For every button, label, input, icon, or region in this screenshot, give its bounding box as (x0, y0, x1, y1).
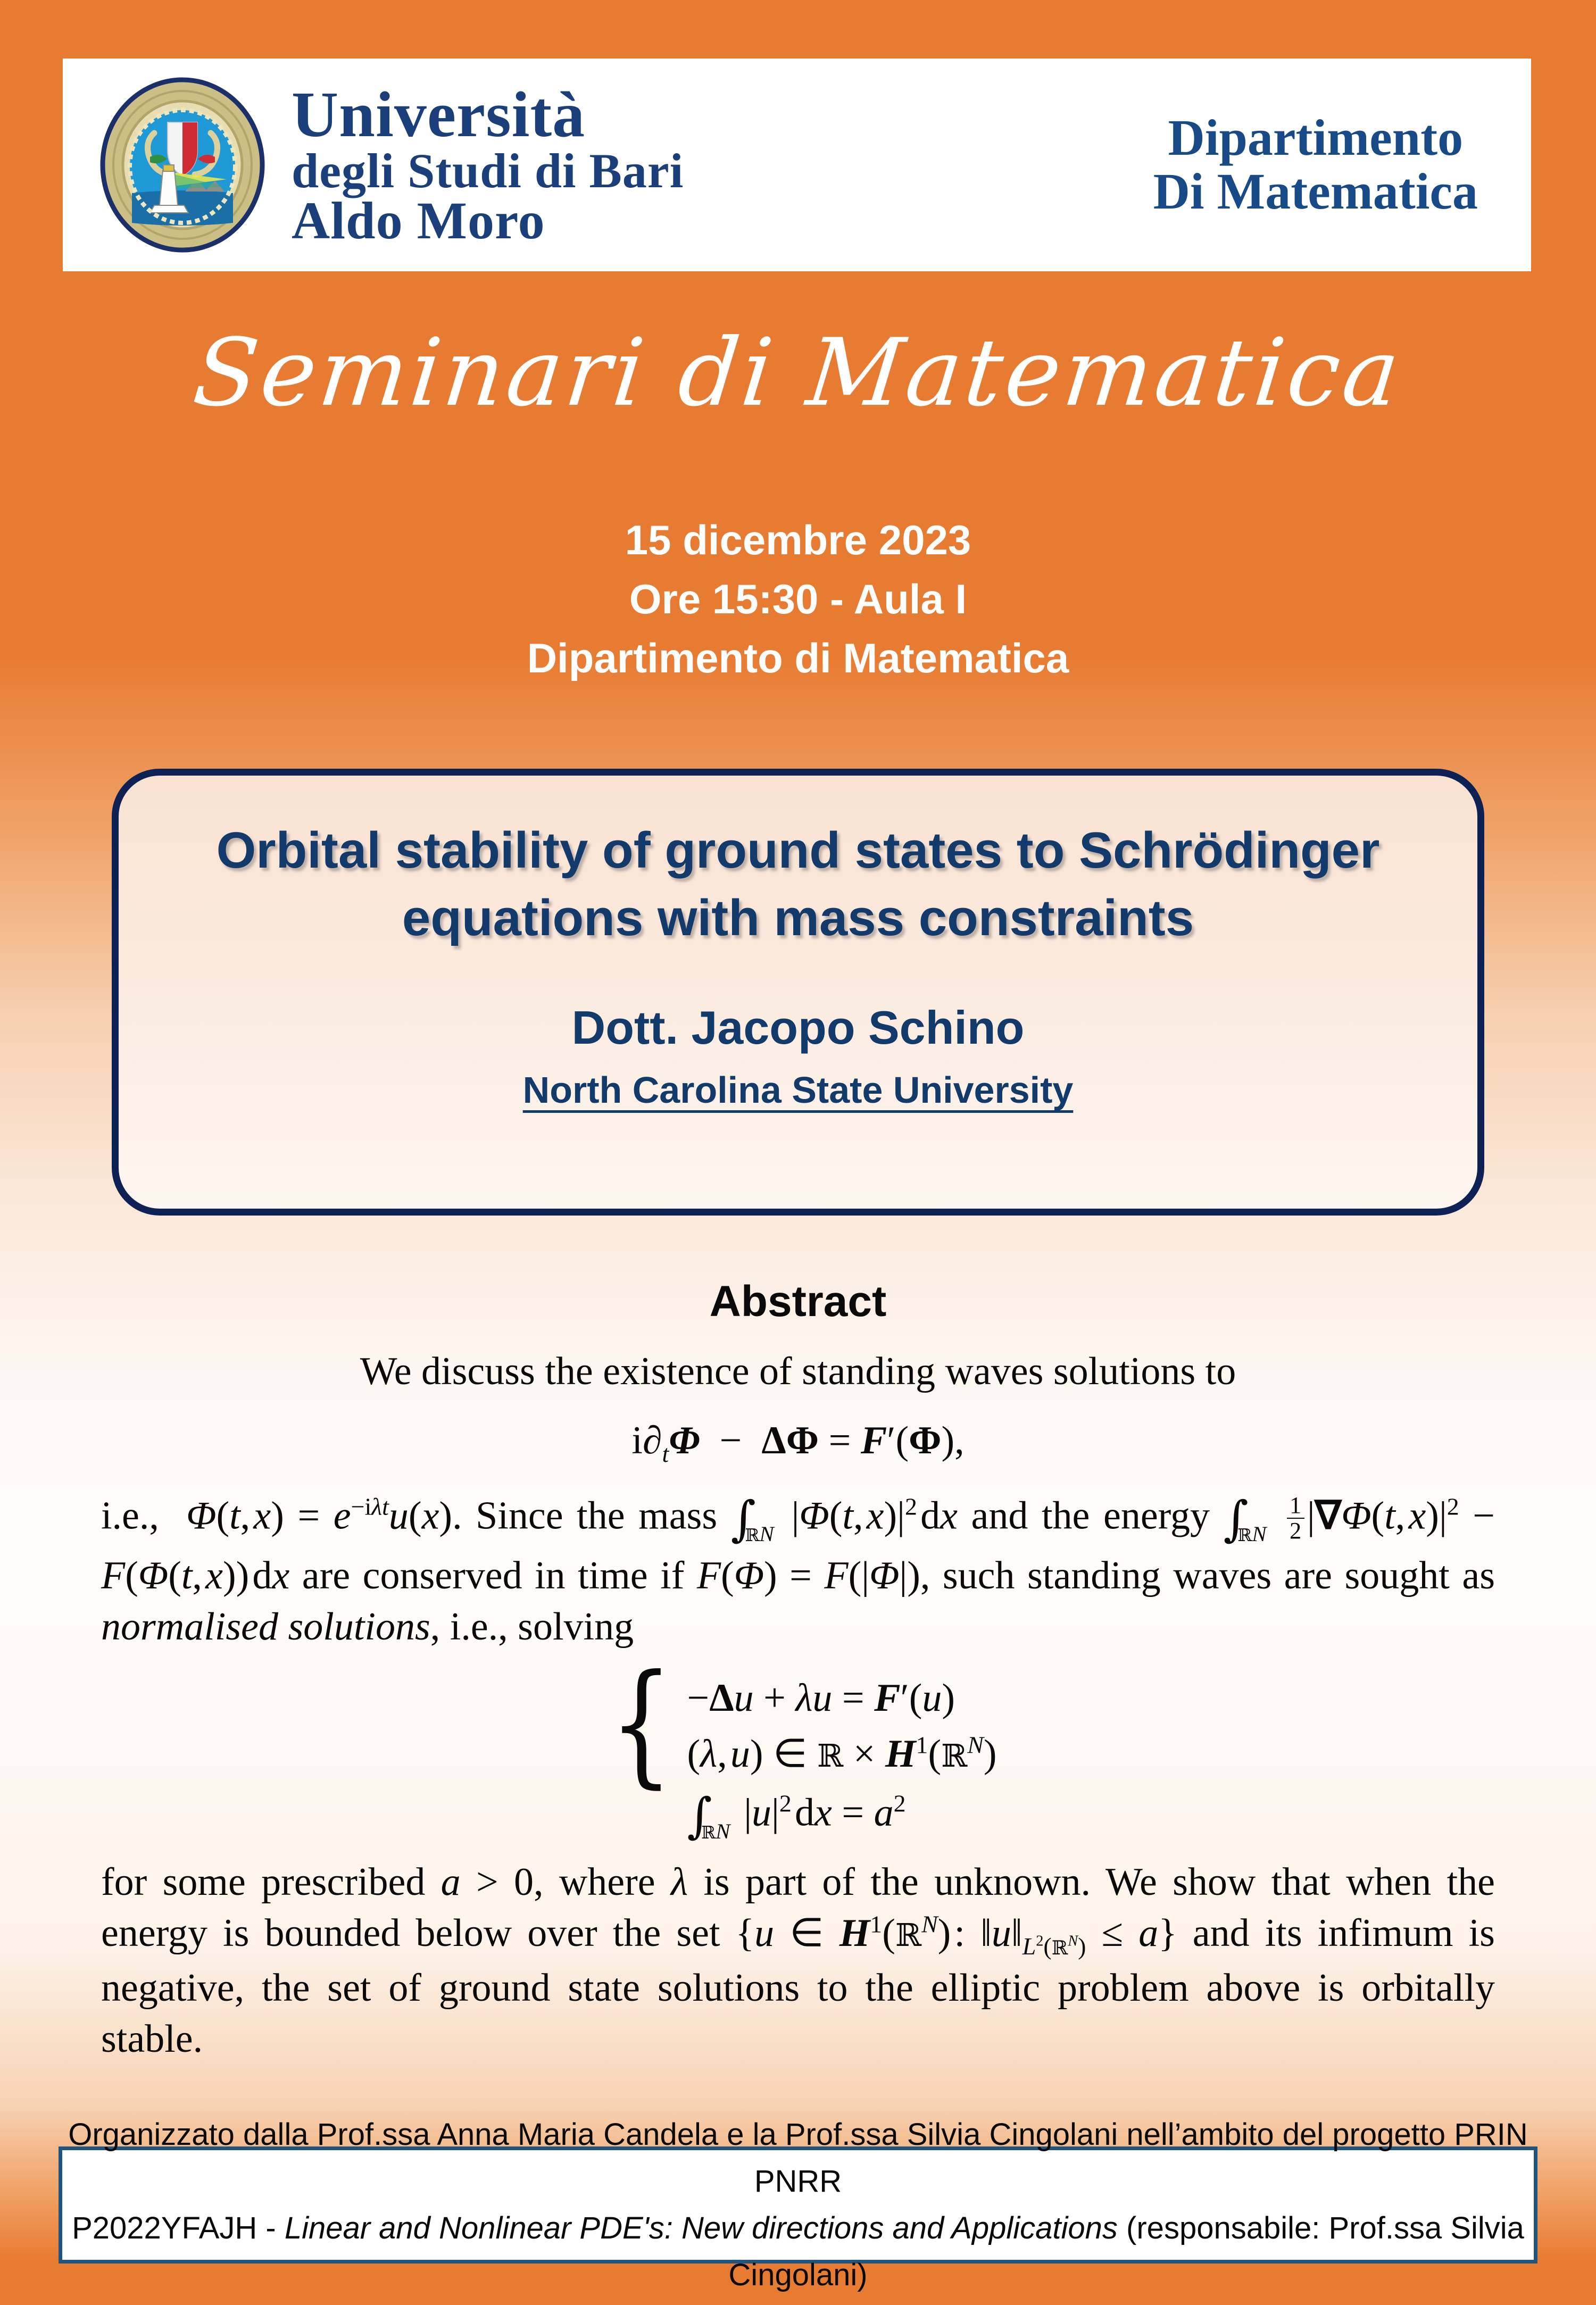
talk-title-line1: Orbital stability of ground states to Sc… (217, 822, 1380, 879)
university-seal-logo (95, 77, 270, 253)
system-line-3: ∫ℝN |u|2 dx = a2 (687, 1782, 996, 1850)
event-time-room: Ore 15:30 - Aula I (0, 570, 1596, 629)
university-line2: degli Studi di Bari (292, 147, 684, 195)
event-details: 15 dicembre 2023 Ore 15:30 - Aula I Dipa… (0, 511, 1596, 687)
abstract-paragraph-2: for some prescribed a > 0, where λ is pa… (101, 1857, 1495, 2065)
seal-icon (95, 77, 270, 253)
footer-line-1: Organizzato dalla Prof.ssa Anna Maria Ca… (62, 2111, 1534, 2205)
system-line-2: (λ, u) ∈ ℝ × H1(ℝN) (687, 1726, 996, 1782)
department-line1: Dipartimento (1153, 111, 1478, 165)
talk-title-line2: equations with mass constraints (402, 889, 1194, 946)
footer-project-title: Linear and Nonlinear PDE's: New directio… (285, 2211, 1118, 2245)
abstract-body: We discuss the existence of standing wav… (101, 1346, 1495, 1652)
event-venue: Dipartimento di Matematica (0, 629, 1596, 688)
poster-canvas: Università degli Studi di Bari Aldo Moro… (0, 0, 1596, 2305)
university-line3: Aldo Moro (292, 195, 684, 247)
university-name: Università degli Studi di Bari Aldo Moro (292, 83, 684, 247)
system-line-1: −Δu + λu = F′(u) (687, 1670, 996, 1726)
abstract-paragraph-1: i.e., Φ(t, x) = e−iλtu(x). Since the mas… (101, 1488, 1495, 1653)
talk-title-box: Orbital stability of ground states to Sc… (112, 769, 1484, 1216)
equation-system: { −Δu + λu = F′(u) (λ, u) ∈ ℝ × H1(ℝN) ∫… (0, 1670, 1596, 1850)
speaker-affiliation: North Carolina State University (523, 1069, 1074, 1111)
event-date: 15 dicembre 2023 (0, 511, 1596, 570)
talk-title: Orbital stability of ground states to Sc… (192, 817, 1404, 952)
footer-project-code: P2022YFAJH - (72, 2211, 285, 2245)
abstract-heading: Abstract (0, 1277, 1596, 1327)
series-title: Seminari di Matematica (0, 319, 1596, 427)
abstract-emphasis: normalised solutions (101, 1605, 430, 1649)
system-lines: −Δu + λu = F′(u) (λ, u) ∈ ℝ × H1(ℝN) ∫ℝN… (687, 1670, 996, 1850)
header-band: Università degli Studi di Bari Aldo Moro… (63, 59, 1531, 271)
footer-line-2: P2022YFAJH - Linear and Nonlinear PDE's:… (62, 2205, 1534, 2299)
organizer-footer: Organizzato dalla Prof.ssa Anna Maria Ca… (59, 2146, 1537, 2264)
department-name: Dipartimento Di Matematica (1153, 111, 1478, 219)
abstract-intro: We discuss the existence of standing wav… (101, 1346, 1495, 1397)
display-equation: i∂tΦ − ΔΦ = F′(Φ), (101, 1415, 1495, 1469)
department-line2: Di Matematica (1153, 165, 1478, 219)
speaker-name: Dott. Jacopo Schino (572, 1001, 1025, 1055)
university-line1: Università (292, 83, 684, 147)
left-brace-glyph: { (610, 1670, 673, 1850)
